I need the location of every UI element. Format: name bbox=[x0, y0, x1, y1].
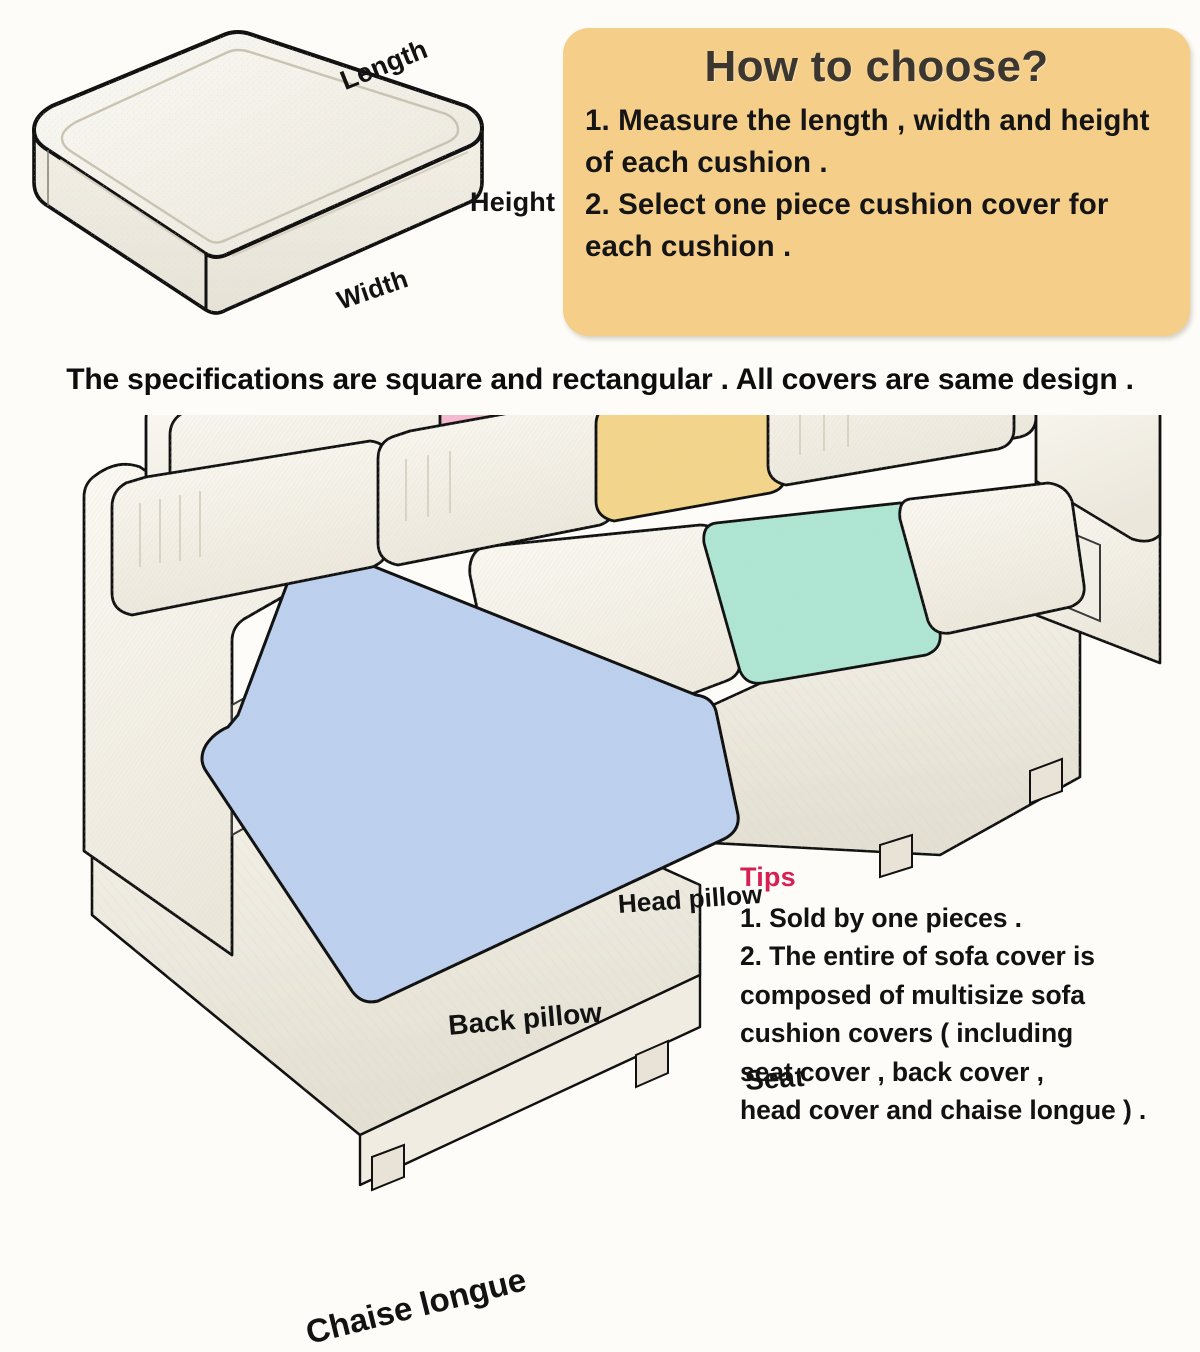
tips-section: Tips 1. Sold by one pieces . 2. The enti… bbox=[740, 862, 1195, 1130]
tips-line: 1. Sold by one pieces . bbox=[740, 899, 1195, 937]
how-to-line: 2. Select one piece cushion cover for bbox=[585, 184, 1168, 226]
how-to-line: 1. Measure the length , width and height bbox=[585, 100, 1168, 142]
cushion-height-label: Height bbox=[470, 187, 555, 218]
tips-line: head cover and chaise longue ) . bbox=[740, 1091, 1195, 1129]
how-to-choose-panel: How to choose? 1. Measure the length , w… bbox=[563, 28, 1190, 336]
tips-line: seat cover , back cover , bbox=[740, 1053, 1195, 1091]
infographic-root: Length Height Width How to choose? 1. Me… bbox=[0, 0, 1200, 1200]
head-pillow-texture bbox=[768, 415, 1014, 485]
cushion-illustration bbox=[0, 10, 570, 360]
tips-line: 2. The entire of sofa cover is bbox=[740, 937, 1195, 975]
how-to-line: each cushion . bbox=[585, 226, 1168, 268]
tips-title: Tips bbox=[740, 862, 1195, 893]
how-to-choose-title: How to choose? bbox=[585, 42, 1168, 92]
how-to-line: of each cushion . bbox=[585, 142, 1168, 184]
head-pillow-highlight-texture bbox=[596, 415, 786, 521]
tips-line: cushion covers ( including bbox=[740, 1014, 1195, 1052]
cushion-dimension-diagram: Length Height Width bbox=[0, 10, 570, 360]
tips-line: composed of multisize sofa bbox=[740, 976, 1195, 1014]
specifications-caption: The specifications are square and rectan… bbox=[0, 363, 1200, 397]
chaise-longue-label: Chaise longue bbox=[302, 1260, 530, 1351]
